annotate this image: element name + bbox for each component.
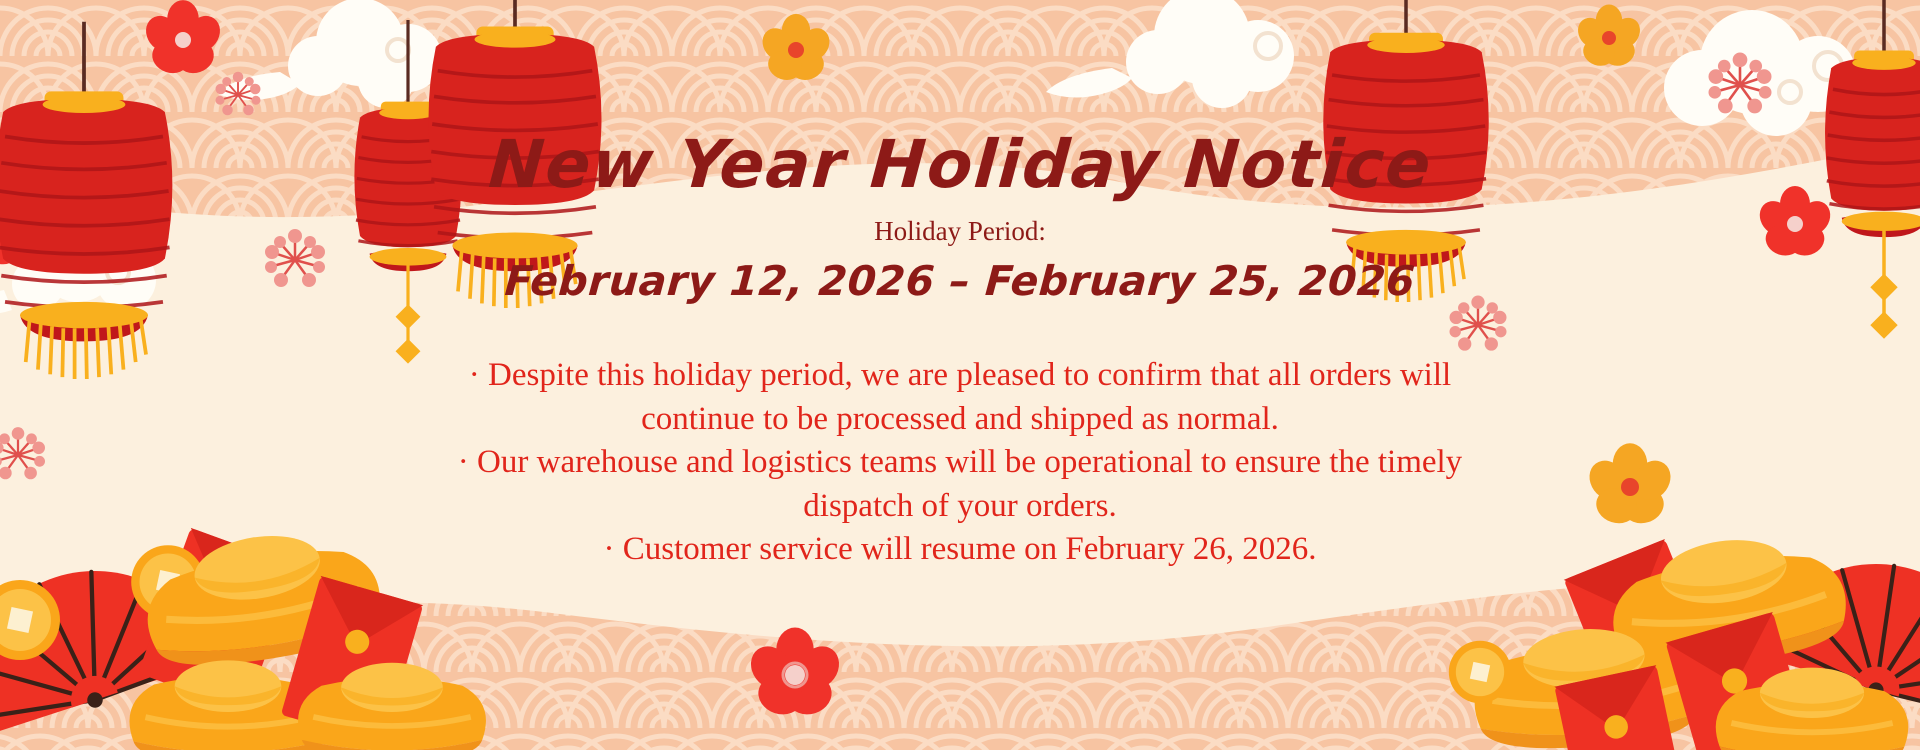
prosperity-items-layer [0,0,1920,750]
new-year-holiday-banner: New Year Holiday Notice Holiday Period: … [0,0,1920,750]
gold-coin-right [1449,641,1511,703]
